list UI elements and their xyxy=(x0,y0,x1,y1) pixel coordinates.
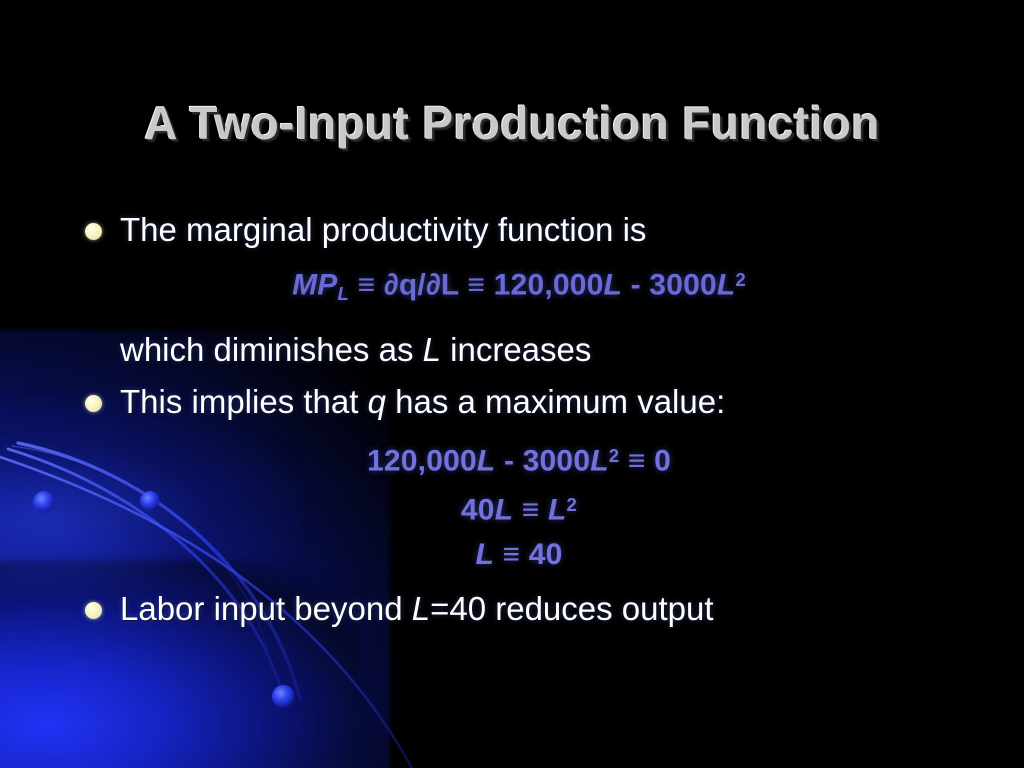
bullet-item-3-part-a: Labor input beyond xyxy=(120,590,412,627)
formula-1-middle: - 3000 xyxy=(622,269,717,302)
bullet-item-2: This implies that q has a maximum value: xyxy=(74,380,964,424)
formula-2-var-2: L xyxy=(590,444,609,477)
subline-part-b: increases xyxy=(441,331,591,368)
formula-3-exponent: 2 xyxy=(567,494,578,515)
bullet-item-2-label: This implies that q has a maximum value: xyxy=(120,380,964,424)
bullet-item-3: Labor input beyond L=40 reduces output xyxy=(74,587,964,631)
formula-simplified: 40L ≡ L2 xyxy=(74,483,964,533)
subline-part-a: which diminishes as xyxy=(120,331,423,368)
formula-2-middle: - 3000 xyxy=(495,444,590,477)
formula-1-var-1: L xyxy=(604,269,623,302)
subline-diminishes: which diminishes as L increases xyxy=(74,326,964,374)
formula-marginal-productivity: MPL ≡ ∂q/∂L ≡ 120,000L - 3000L2 xyxy=(74,258,964,316)
formula-1-exponent: 2 xyxy=(735,269,746,290)
formula-3-var-1: L xyxy=(495,494,514,527)
formula-1-operator: ≡ ∂q/∂L ≡ 120,000 xyxy=(349,269,603,302)
formula-1-subscript: L xyxy=(337,283,349,304)
formula-1-var-2: L xyxy=(717,269,736,302)
formula-1-lead: MP xyxy=(292,269,337,302)
bullet-item-1-label: The marginal productivity function is xyxy=(120,208,964,252)
bullet-item-2-part-b: has a maximum value: xyxy=(386,383,725,420)
bullet-item-2-var-q: q xyxy=(368,383,386,420)
spacer xyxy=(74,577,964,587)
formula-2-number: 120,000 xyxy=(367,444,477,477)
slide-canvas: A Two-Input Production Function The marg… xyxy=(0,0,1024,768)
bullet-item-3-label: Labor input beyond L=40 reduces output xyxy=(120,587,964,631)
bullet-marker-icon xyxy=(85,223,102,240)
formula-2-var-1: L xyxy=(477,444,496,477)
bullet-item-2-part-a: This implies that xyxy=(120,383,368,420)
formula-2-tail: ≡ 0 xyxy=(619,444,671,477)
formula-3-var-2: L xyxy=(548,494,567,527)
formula-solution: L ≡ 40 xyxy=(74,533,964,577)
spacer xyxy=(74,424,964,434)
slide-body: The marginal productivity function is MP… xyxy=(74,208,964,631)
formula-3-number: 40 xyxy=(461,494,495,527)
formula-4-var-L: L xyxy=(475,538,494,571)
formula-4-tail: ≡ 40 xyxy=(494,538,563,571)
bullet-marker-icon xyxy=(85,395,102,412)
bullet-item-3-var-L: L xyxy=(412,590,430,627)
bullet-item-1: The marginal productivity function is xyxy=(74,208,964,252)
formula-3-middle: ≡ xyxy=(513,494,548,527)
slide-title: A Two-Input Production Function xyxy=(0,96,1024,150)
bullet-item-3-part-b: =40 reduces output xyxy=(430,590,713,627)
subline-var-L: L xyxy=(423,331,441,368)
bullet-marker-icon xyxy=(85,602,102,619)
spacer xyxy=(74,316,964,326)
formula-max-condition: 120,000L - 3000L2 ≡ 0 xyxy=(74,434,964,484)
orbit-node-3 xyxy=(272,685,295,708)
orbit-node-1 xyxy=(33,491,55,513)
formula-2-exponent: 2 xyxy=(609,445,620,466)
